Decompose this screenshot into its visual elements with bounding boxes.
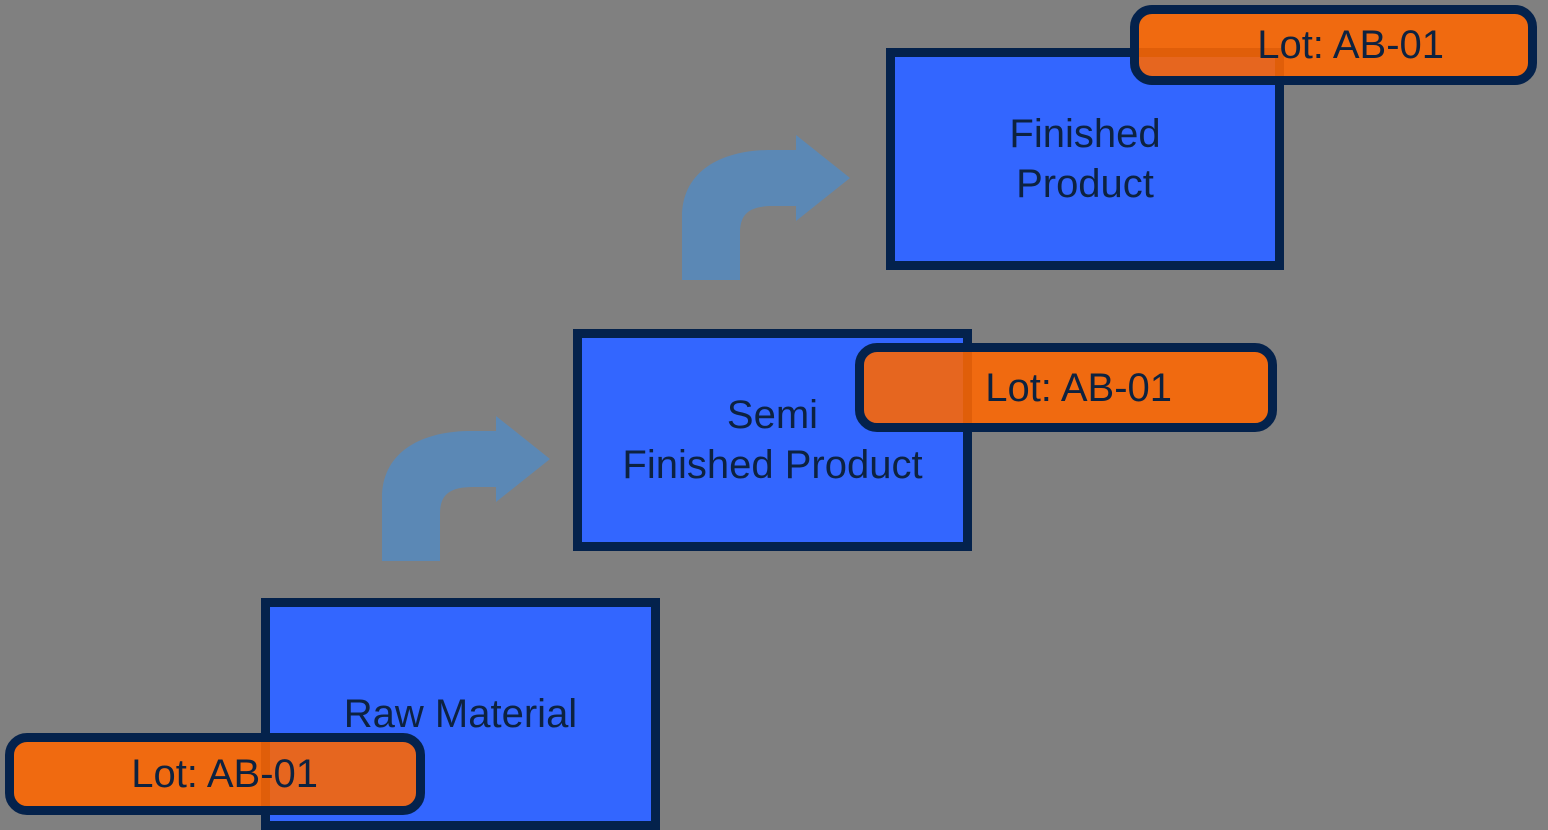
stage-label-finished-product: Finished Product: [1009, 109, 1160, 209]
curved-arrow-up-right-icon: [378, 416, 553, 561]
lot-badge-label-finished-product: Lot: AB-01: [1257, 23, 1444, 67]
lot-badge-label-raw-material: Lot: AB-01: [131, 752, 318, 796]
curved-arrow-up-right-icon: [678, 135, 853, 280]
diagram-canvas: Raw Material Semi Finished Product Finis…: [0, 0, 1548, 822]
stage-label-raw-material: Raw Material: [344, 689, 577, 739]
lot-badge-finished-product[interactable]: Lot: AB-01: [1130, 5, 1537, 85]
lot-badge-raw-material[interactable]: Lot: AB-01: [5, 733, 425, 815]
lot-badge-semi-finished-product[interactable]: Lot: AB-01: [855, 343, 1277, 432]
lot-badge-label-semi-finished-product: Lot: AB-01: [985, 366, 1172, 410]
